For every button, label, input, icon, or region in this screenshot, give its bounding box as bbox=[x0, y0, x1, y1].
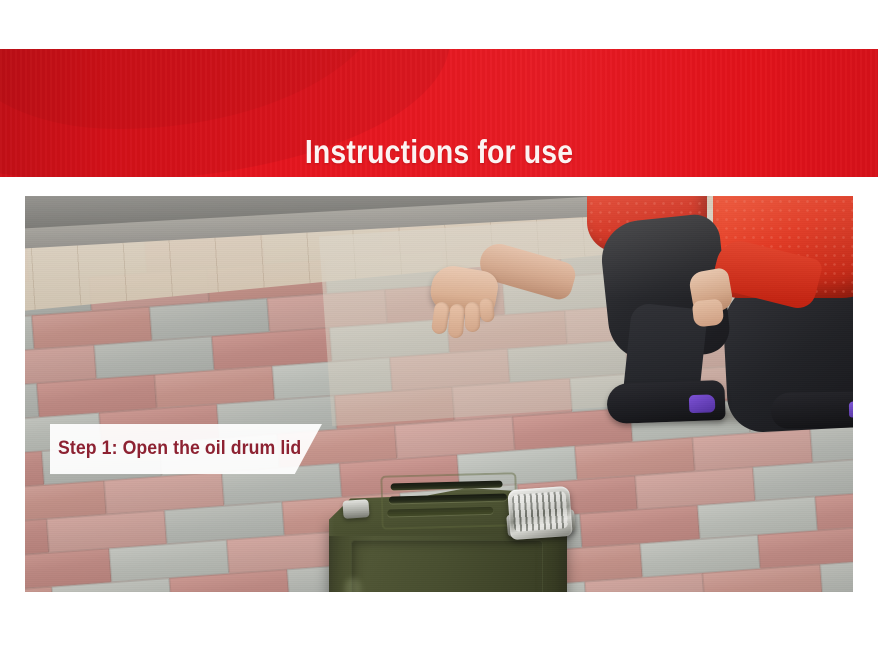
person-finger bbox=[448, 304, 465, 339]
person-shoe-far bbox=[771, 391, 853, 429]
step-label-box: Step 1: Open the oil drum lid bbox=[50, 424, 322, 474]
handle-slat bbox=[387, 507, 493, 517]
banner-swoosh-decoration-secondary bbox=[0, 49, 390, 129]
jerry-can-cap bbox=[507, 486, 572, 540]
handle-slat bbox=[389, 493, 507, 503]
page-title: Instructions for use bbox=[61, 135, 816, 169]
header-banner: Instructions for use Please pay attentio… bbox=[0, 49, 878, 177]
shoe-accent-far bbox=[849, 401, 853, 417]
jerry-can-highlight bbox=[345, 578, 361, 592]
person-hand-resting-fingers bbox=[692, 299, 725, 328]
step-label-text: Step 1: Open the oil drum lid bbox=[58, 439, 301, 459]
jerry-can-handle bbox=[386, 478, 511, 523]
photo-content bbox=[25, 196, 853, 592]
person-crouching bbox=[565, 196, 853, 426]
person-shoe-near bbox=[606, 380, 725, 424]
shoe-accent-near bbox=[689, 394, 716, 413]
jerry-can-stamped-panel bbox=[351, 540, 543, 592]
instruction-slide: Instructions for use Please pay attentio… bbox=[0, 0, 878, 659]
person-finger bbox=[465, 302, 480, 332]
person-thumb bbox=[479, 298, 495, 323]
jerry-can-vent-valve bbox=[342, 499, 369, 519]
jerry-can bbox=[321, 472, 571, 592]
step-photo: Step 1: Open the oil drum lid bbox=[25, 196, 853, 592]
cap-knurl-ridges bbox=[512, 491, 568, 532]
handle-slat bbox=[391, 481, 503, 491]
